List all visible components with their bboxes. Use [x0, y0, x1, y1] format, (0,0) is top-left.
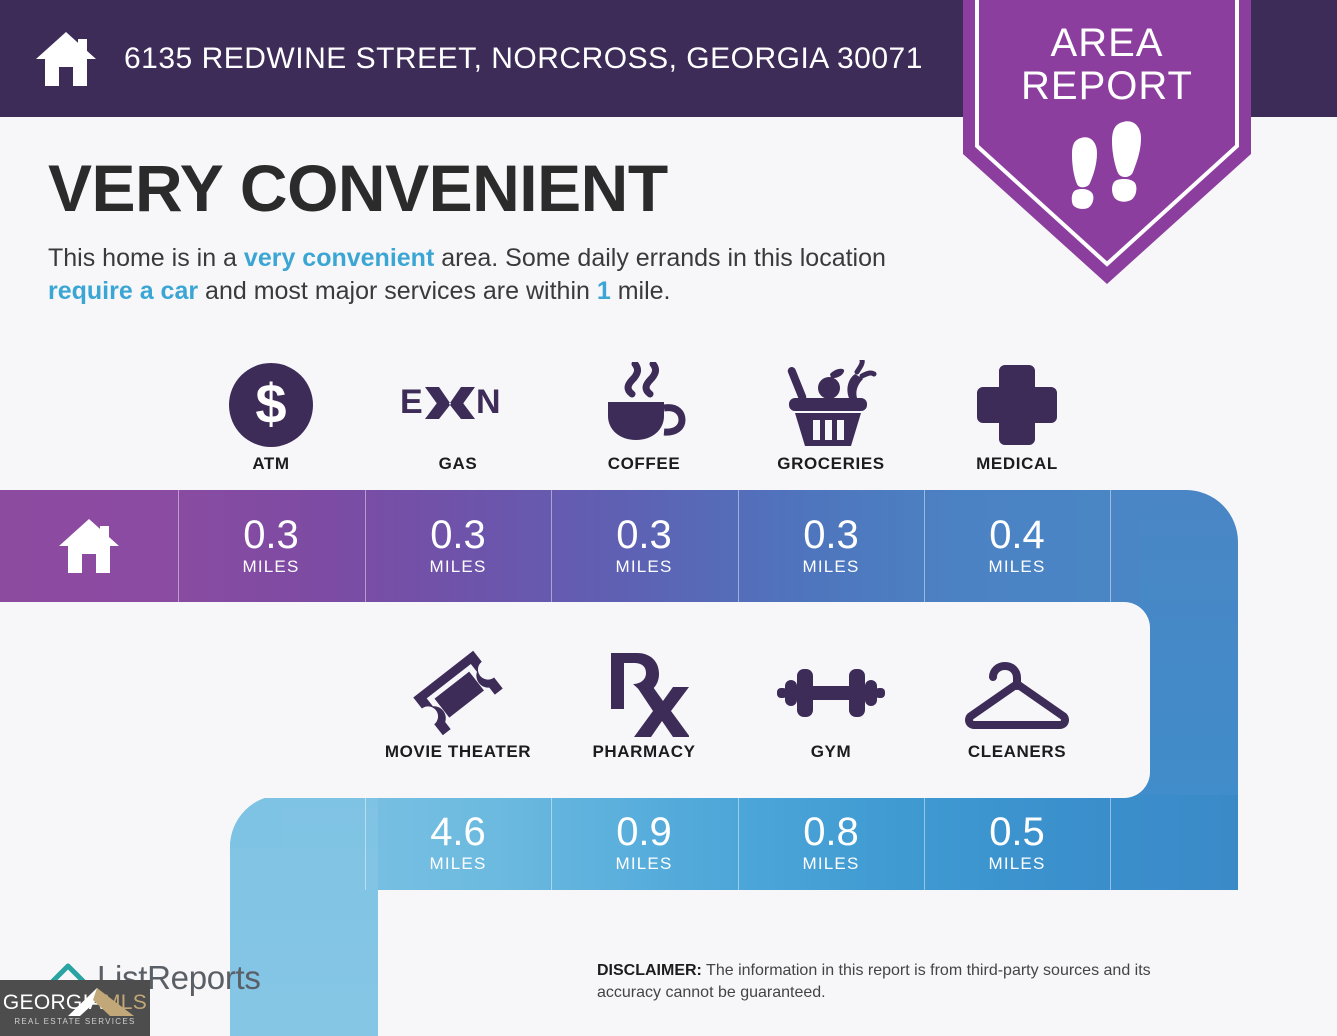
summary-highlight-3: 1	[597, 277, 611, 305]
distance-unit: MILES	[429, 557, 486, 577]
cell-divider	[738, 795, 739, 890]
summary-highlight-1: very convenient	[244, 244, 434, 272]
cell-divider	[924, 795, 925, 890]
header-bar: 6135 REDWINE STREET, NORCROSS, GEORGIA 3…	[0, 0, 944, 117]
amenity-label: GYM	[738, 742, 924, 762]
page-title: VERY CONVENIENT	[48, 150, 668, 226]
distance-cell-coffee: 0.3 MILES	[551, 490, 737, 602]
svg-text:E: E	[400, 383, 423, 421]
amenity-label: COFFEE	[551, 454, 737, 474]
amenity-label: PHARMACY	[551, 742, 737, 762]
cell-divider	[365, 490, 366, 602]
summary-part-3: and most major services are within	[198, 277, 597, 305]
amenity-gas: E N GAS	[365, 362, 551, 474]
area-report-page: 6135 REDWINE STREET, NORCROSS, GEORGIA 3…	[0, 0, 1337, 1036]
home-icon	[34, 29, 98, 89]
distance-unit: MILES	[242, 557, 299, 577]
dollar-circle-icon: $	[178, 362, 364, 448]
disclaimer-label: DISCLAIMER:	[597, 962, 702, 979]
distance-cell-atm: 0.3 MILES	[178, 490, 364, 602]
cell-divider	[738, 490, 739, 602]
clothes-hanger-icon	[924, 650, 1110, 736]
cell-divider	[178, 490, 179, 602]
distance-unit: MILES	[988, 557, 1045, 577]
amenity-pharmacy: PHARMACY	[551, 650, 737, 762]
exxon-wordmark-icon: E N	[365, 362, 551, 448]
amenity-cleaners: CLEANERS	[924, 650, 1110, 762]
summary-part-2: area. Some daily errands in this locatio…	[434, 244, 886, 272]
cell-divider	[551, 795, 552, 890]
distance-value: 0.9	[616, 812, 672, 852]
distance-value: 4.6	[430, 812, 486, 852]
amenity-coffee: COFFEE	[551, 362, 737, 474]
cell-divider	[1110, 490, 1111, 602]
amenity-label: MEDICAL	[924, 454, 1110, 474]
dumbbell-icon	[738, 650, 924, 736]
summary-paragraph: This home is in a very convenient area. …	[48, 242, 948, 308]
amenity-label: GAS	[365, 454, 551, 474]
distance-value: 0.8	[803, 812, 859, 852]
coffee-cup-icon	[551, 362, 737, 448]
distance-cell-pharmacy: 0.9 MILES	[551, 795, 737, 890]
distance-cell-medical: 0.4 MILES	[924, 490, 1110, 602]
distance-value: 0.3	[243, 515, 299, 555]
summary-part-4: mile.	[611, 277, 671, 305]
cell-divider	[365, 795, 366, 890]
amenity-gym: GYM	[738, 650, 924, 762]
home-icon	[57, 517, 121, 575]
georgia-mls-logo: GEORGIAMLS REAL ESTATE SERVICES	[0, 980, 150, 1036]
summary-part-1: This home is in a	[48, 244, 244, 272]
medical-cross-icon	[924, 362, 1110, 448]
movie-ticket-icon	[365, 650, 551, 736]
distance-cell-gas: 0.3 MILES	[365, 490, 551, 602]
cell-divider	[924, 490, 925, 602]
distance-unit: MILES	[615, 854, 672, 874]
svg-text:N: N	[476, 383, 501, 421]
distance-unit: MILES	[988, 854, 1045, 874]
distance-cell-gym: 0.8 MILES	[738, 795, 924, 890]
cell-divider	[1110, 795, 1111, 890]
distance-unit: MILES	[429, 854, 486, 874]
summary-highlight-2: require a car	[48, 277, 198, 305]
distance-unit: MILES	[802, 557, 859, 577]
distance-unit: MILES	[615, 557, 672, 577]
distance-value: 0.3	[616, 515, 672, 555]
distance-unit: MILES	[802, 854, 859, 874]
svg-text:$: $	[255, 372, 286, 435]
distance-value: 0.4	[989, 515, 1045, 555]
property-address: 6135 REDWINE STREET, NORCROSS, GEORGIA 3…	[124, 42, 923, 76]
amenity-label: MOVIE THEATER	[365, 742, 551, 762]
amenity-medical: MEDICAL	[924, 362, 1110, 474]
distance-value: 0.3	[430, 515, 486, 555]
mls-roof-icon	[64, 982, 138, 1022]
amenity-label: GROCERIES	[738, 454, 924, 474]
area-report-badge: AREA REPORT	[963, 0, 1251, 284]
amenity-groceries: GROCERIES	[738, 362, 924, 474]
home-marker-cell	[0, 490, 178, 602]
distance-cell-cleaners: 0.5 MILES	[924, 795, 1110, 890]
distance-value: 0.3	[803, 515, 859, 555]
amenity-atm: $ ATM	[178, 362, 364, 474]
rx-icon	[551, 650, 737, 736]
distance-value: 0.5	[989, 812, 1045, 852]
amenity-label: ATM	[178, 454, 364, 474]
amenity-label: CLEANERS	[924, 742, 1110, 762]
cell-divider	[551, 490, 552, 602]
disclaimer: DISCLAIMER: The information in this repo…	[597, 960, 1197, 1004]
distance-cell-groceries: 0.3 MILES	[738, 490, 924, 602]
amenity-movie-theater: MOVIE THEATER	[365, 650, 551, 762]
distance-cell-movie-theater: 4.6 MILES	[365, 795, 551, 890]
grocery-basket-icon	[738, 362, 924, 448]
